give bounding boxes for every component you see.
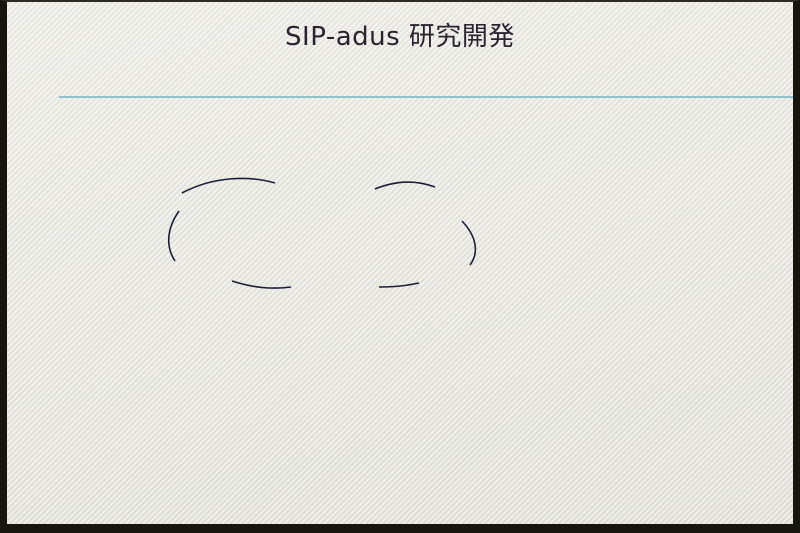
page-title: SIP-adus 研究開発 — [7, 16, 793, 53]
title-divider — [59, 96, 800, 98]
diagram-connectors — [7, 41, 800, 533]
presentation-slide: SIP-adus 研究開発 ➤重要5課題テーマ ・重要5課題を中心に、協調領域の… — [0, 0, 800, 533]
